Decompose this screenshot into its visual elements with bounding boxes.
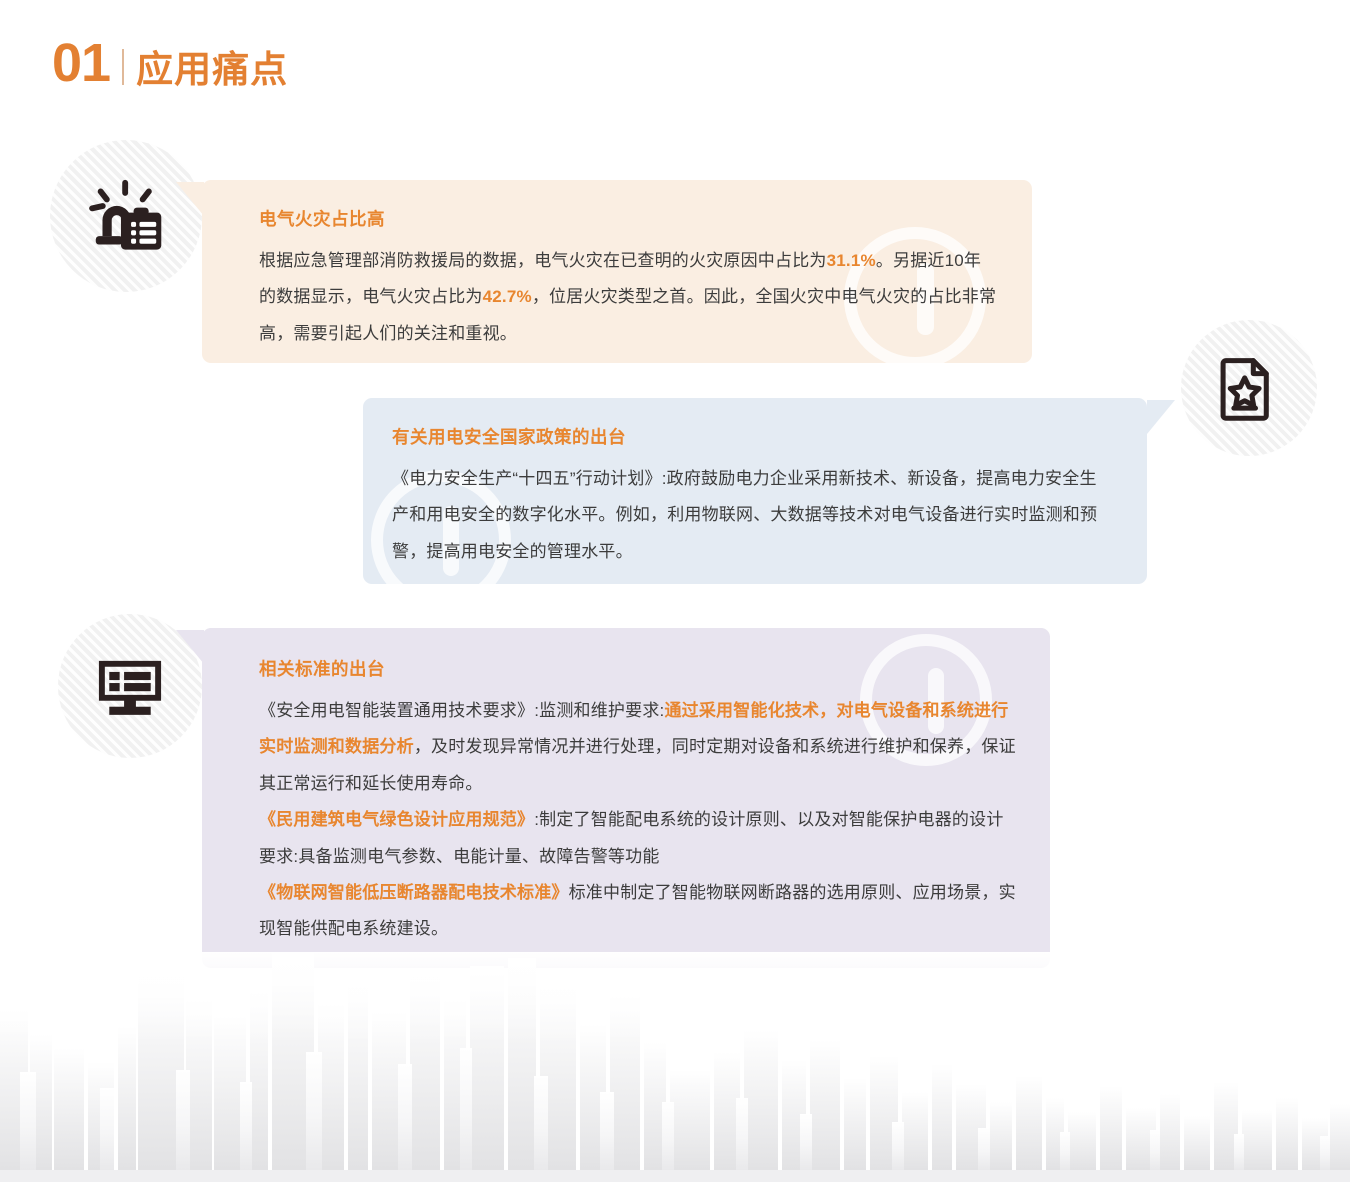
badge-circle-2 (1181, 320, 1317, 456)
card-paragraph: 《物联网智能低压断路器配电技术标准》标准中制定了智能物联网断路器的选用原则、应用… (259, 875, 1020, 948)
card-related-standards: 相关标准的出台 《安全用电智能装置通用技术要求》:监测和维护要求:通过采用智能化… (202, 628, 1050, 968)
card-tail-2 (1147, 400, 1175, 434)
page-title: 应用痛点 (136, 51, 288, 90)
slide-page: 01 应用痛点 (0, 0, 1350, 1182)
city-skyline-decoration (0, 952, 1350, 1182)
page-header: 01 应用痛点 (52, 36, 288, 90)
standard-name: 《物联网智能低压断路器配电技术标准》 (259, 883, 569, 902)
card-electric-fire-ratio: 电气火灾占比高 根据应急管理部消防救援局的数据，电气火灾在已查明的火灾原因中占比… (202, 180, 1032, 363)
card-tail-3 (176, 630, 204, 664)
certificate-document-icon (1213, 352, 1285, 424)
header-divider (122, 49, 124, 85)
text-run: 根据应急管理部消防救援局的数据，电气火灾在已查明的火灾原因中占比为 (259, 251, 827, 270)
card-national-policy: 有关用电安全国家政策的出台 《电力安全生产“十四五”行动计划》:政府鼓励电力企业… (363, 398, 1147, 584)
card-title: 有关用电安全国家政策的出台 (392, 424, 1113, 449)
monitor-list-icon (93, 649, 167, 723)
card-title: 相关标准的出台 (259, 656, 1020, 681)
section-number: 01 (52, 36, 110, 90)
card-paragraph: 《民用建筑电气绿色设计应用规范》:制定了智能配电系统的设计原则、以及对智能保护电… (259, 802, 1020, 875)
city-skyline-icon (0, 952, 1350, 1182)
standard-name: 《民用建筑电气绿色设计应用规范》 (259, 810, 534, 829)
card-title: 电气火灾占比高 (259, 206, 998, 231)
card-paragraph: 根据应急管理部消防救援局的数据，电气火灾在已查明的火灾原因中占比为31.1%。另… (259, 243, 998, 352)
highlight-value: 42.7% (483, 287, 532, 306)
alarm-clipboard-icon (84, 174, 168, 258)
card-paragraph: 《电力安全生产“十四五”行动计划》:政府鼓励电力企业采用新技术、新设备，提高电力… (392, 461, 1113, 570)
card-tail-1 (176, 182, 204, 216)
card-paragraph: 《安全用电智能装置通用技术要求》:监测和维护要求:通过采用智能化技术，对电气设备… (259, 693, 1020, 802)
highlight-value: 31.1% (827, 251, 876, 270)
text-run: 《电力安全生产“十四五”行动计划》:政府鼓励电力企业采用新技术、新设备，提高电力… (392, 469, 1097, 561)
text-run: 《安全用电智能装置通用技术要求》:监测和维护要求: (259, 701, 664, 720)
badge-circle-1 (50, 140, 202, 292)
